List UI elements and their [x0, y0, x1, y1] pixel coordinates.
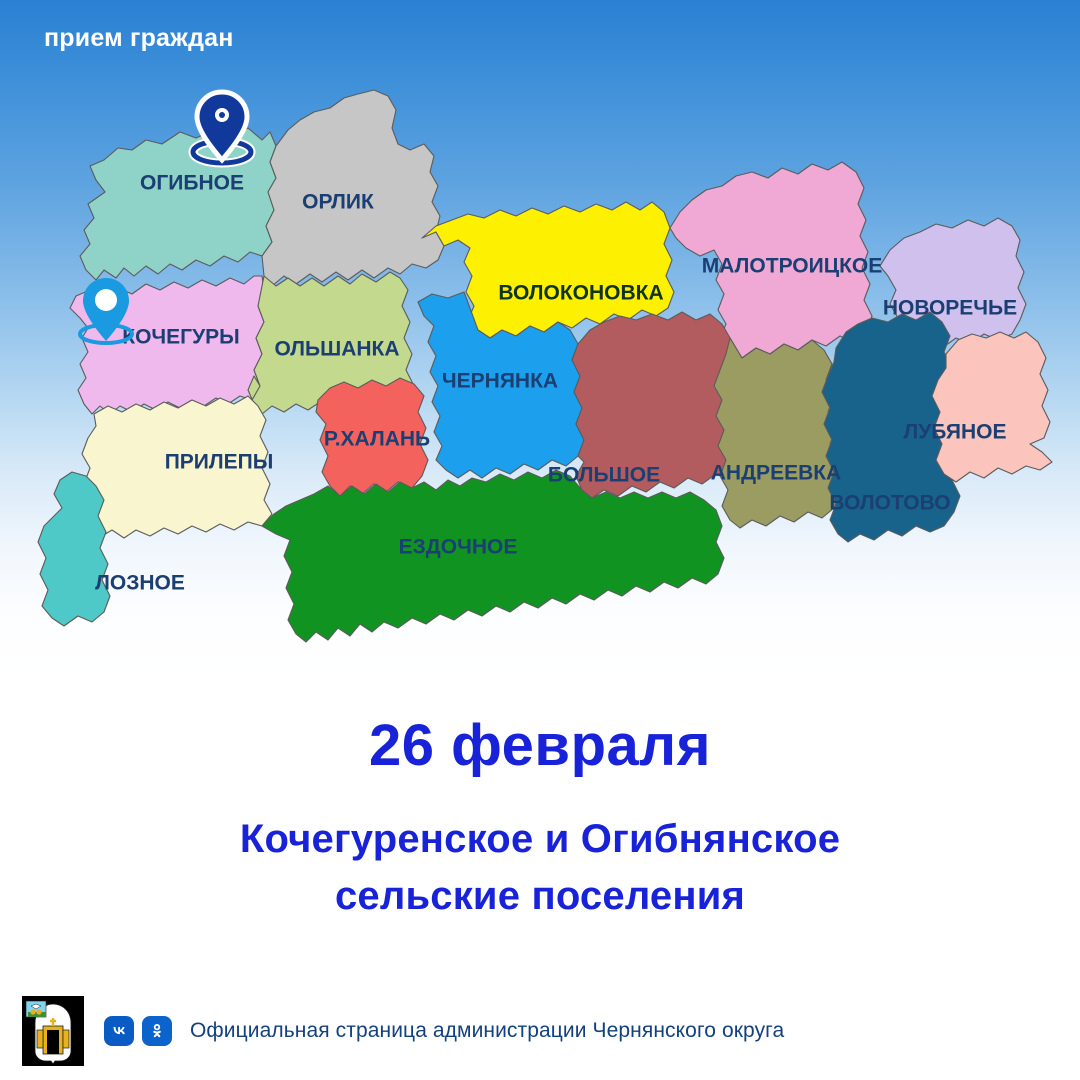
region-label-prilepy: ПРИЛЕПЫ [165, 451, 274, 474]
headline-block: 26 февраля Кочегуренское и Огибнянское с… [0, 716, 1080, 924]
poster-root: прием граждан [0, 0, 1080, 1080]
region-label-novorechye: НОВОРЕЧЬЕ [883, 297, 1017, 320]
vk-icon[interactable] [104, 1016, 134, 1046]
region-label-ezdochnoe: ЕЗДОЧНОЕ [399, 536, 518, 559]
vk-glyph [110, 1022, 128, 1040]
region-label-kochegury: КОЧЕГУРЫ [122, 326, 239, 349]
region-loznoe[interactable] [38, 472, 110, 626]
region-ogibnoe[interactable] [80, 128, 276, 280]
ok-icon[interactable] [142, 1016, 172, 1046]
district-map: ОГИБНОЕ ОРЛИК КОЧЕГУРЫ ОЛЬШАНКА ВОЛОКОНО… [0, 70, 1080, 690]
region-label-andreevka: АНДРЕЕВКА [711, 462, 841, 485]
event-subject-line-1: Кочегуренское и Огибнянское [0, 811, 1080, 868]
region-label-olshanka: ОЛЬШАНКА [274, 338, 399, 361]
region-label-volokonovka: ВОЛОКОНОВКА [498, 282, 663, 305]
region-label-lubyanoe: ЛУБЯНОЕ [904, 421, 1007, 444]
region-andreevka[interactable] [714, 338, 840, 528]
ok-glyph [149, 1022, 165, 1040]
region-label-bolshoe: БОЛЬШОЕ [548, 464, 660, 487]
region-lubyanoe[interactable] [932, 332, 1052, 482]
region-label-ogibnoe: ОГИБНОЕ [140, 172, 244, 195]
region-label-rhalan: Р.ХАЛАНЬ [324, 428, 430, 451]
social-links [104, 1016, 172, 1046]
event-subject-line-2: сельские поселения [0, 868, 1080, 925]
region-label-malotroickoe: МАЛОТРОИЦКОЕ [702, 255, 882, 278]
kicker-text: прием граждан [44, 24, 234, 53]
map-svg: ОГИБНОЕ ОРЛИК КОЧЕГУРЫ ОЛЬШАНКА ВОЛОКОНО… [0, 70, 1080, 690]
region-orlik[interactable] [262, 90, 444, 286]
region-label-volotovo: ВОЛОТОВО [829, 492, 950, 515]
region-label-orlik: ОРЛИК [302, 191, 374, 214]
footer-caption: Официальная страница администрации Черня… [190, 1019, 784, 1043]
coat-of-arms-icon [22, 996, 84, 1066]
footer-bar: Официальная страница администрации Черня… [0, 982, 1080, 1080]
region-label-chernyanka: ЧЕРНЯНКА [442, 370, 558, 393]
event-subject: Кочегуренское и Огибнянское сельские пос… [0, 811, 1080, 925]
event-date: 26 февраля [0, 716, 1080, 777]
region-label-loznoe: ЛОЗНОЕ [95, 572, 185, 595]
